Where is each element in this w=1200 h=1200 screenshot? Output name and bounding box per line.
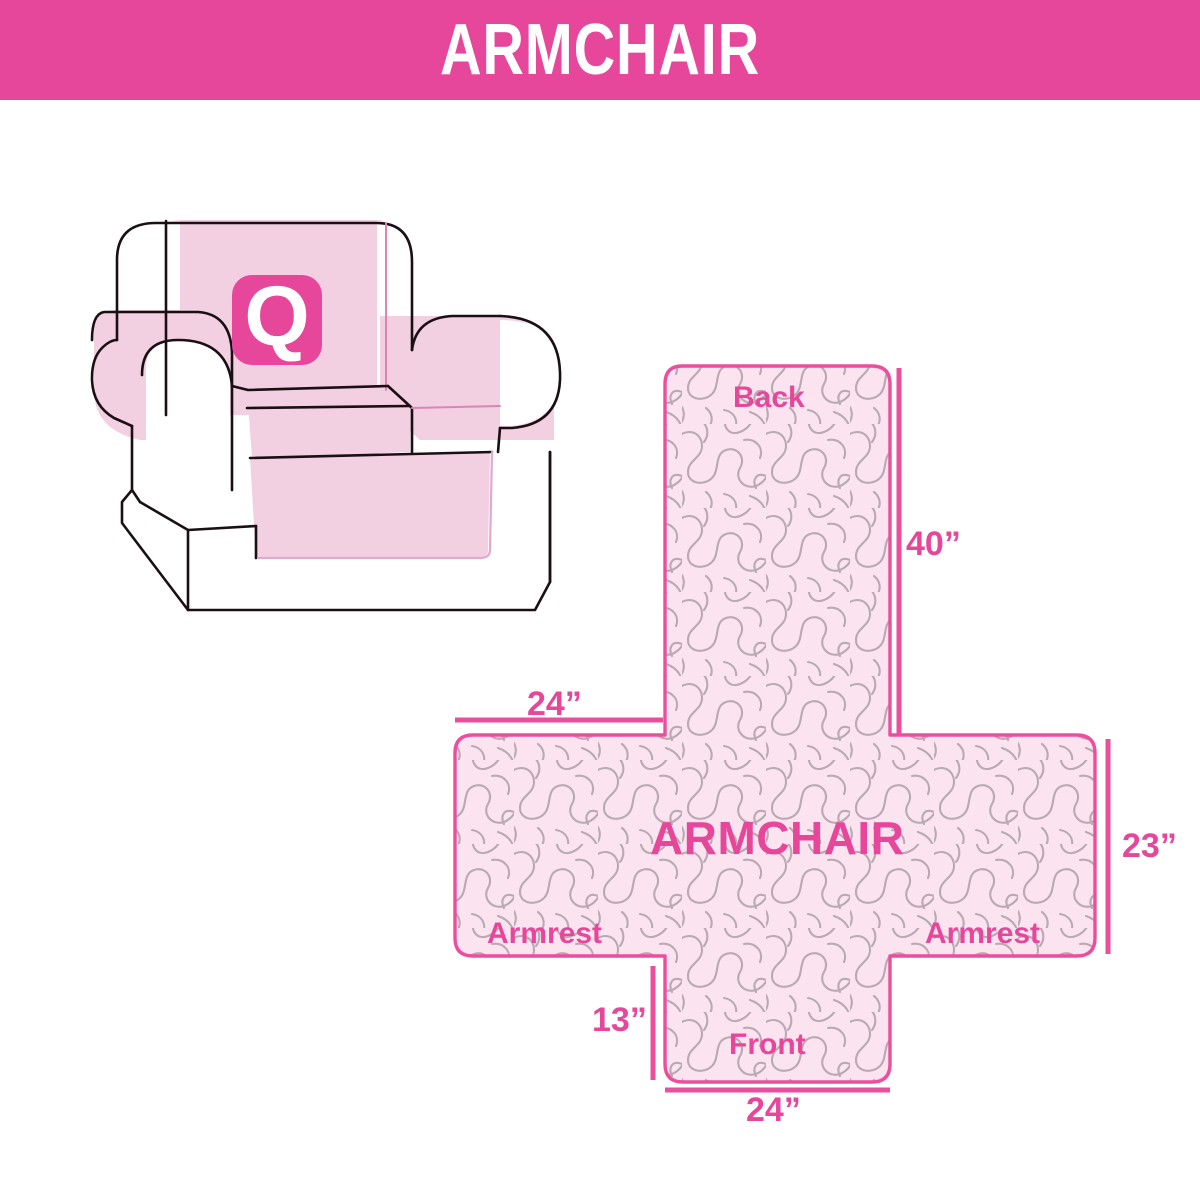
dimension-label-front-depth: 13”: [592, 1003, 647, 1037]
dimension-label-back-height: 40”: [906, 527, 961, 561]
header-banner: ARMCHAIR: [0, 0, 1200, 100]
flatlay-cross-diagram: [430, 340, 1200, 1130]
panel-label-armrest-left: Armrest: [487, 919, 602, 949]
svg-text:Q: Q: [244, 269, 309, 363]
cover-outline-shape: [455, 366, 1095, 1082]
panel-label-armrest-right: Armrest: [925, 919, 1040, 949]
page-title: ARMCHAIR: [440, 14, 760, 86]
dimension-label-front-width: 24”: [746, 1093, 801, 1127]
diagram-center-label: ARMCHAIR: [650, 815, 904, 861]
dimension-label-back-width: 24”: [527, 687, 582, 721]
panel-label-back: Back: [733, 383, 805, 413]
dimension-label-body-height: 23”: [1122, 829, 1177, 863]
panel-label-front: Front: [729, 1030, 806, 1060]
page-root: ARMCHAIR: [0, 0, 1200, 1200]
brand-logo: Q: [232, 269, 322, 365]
